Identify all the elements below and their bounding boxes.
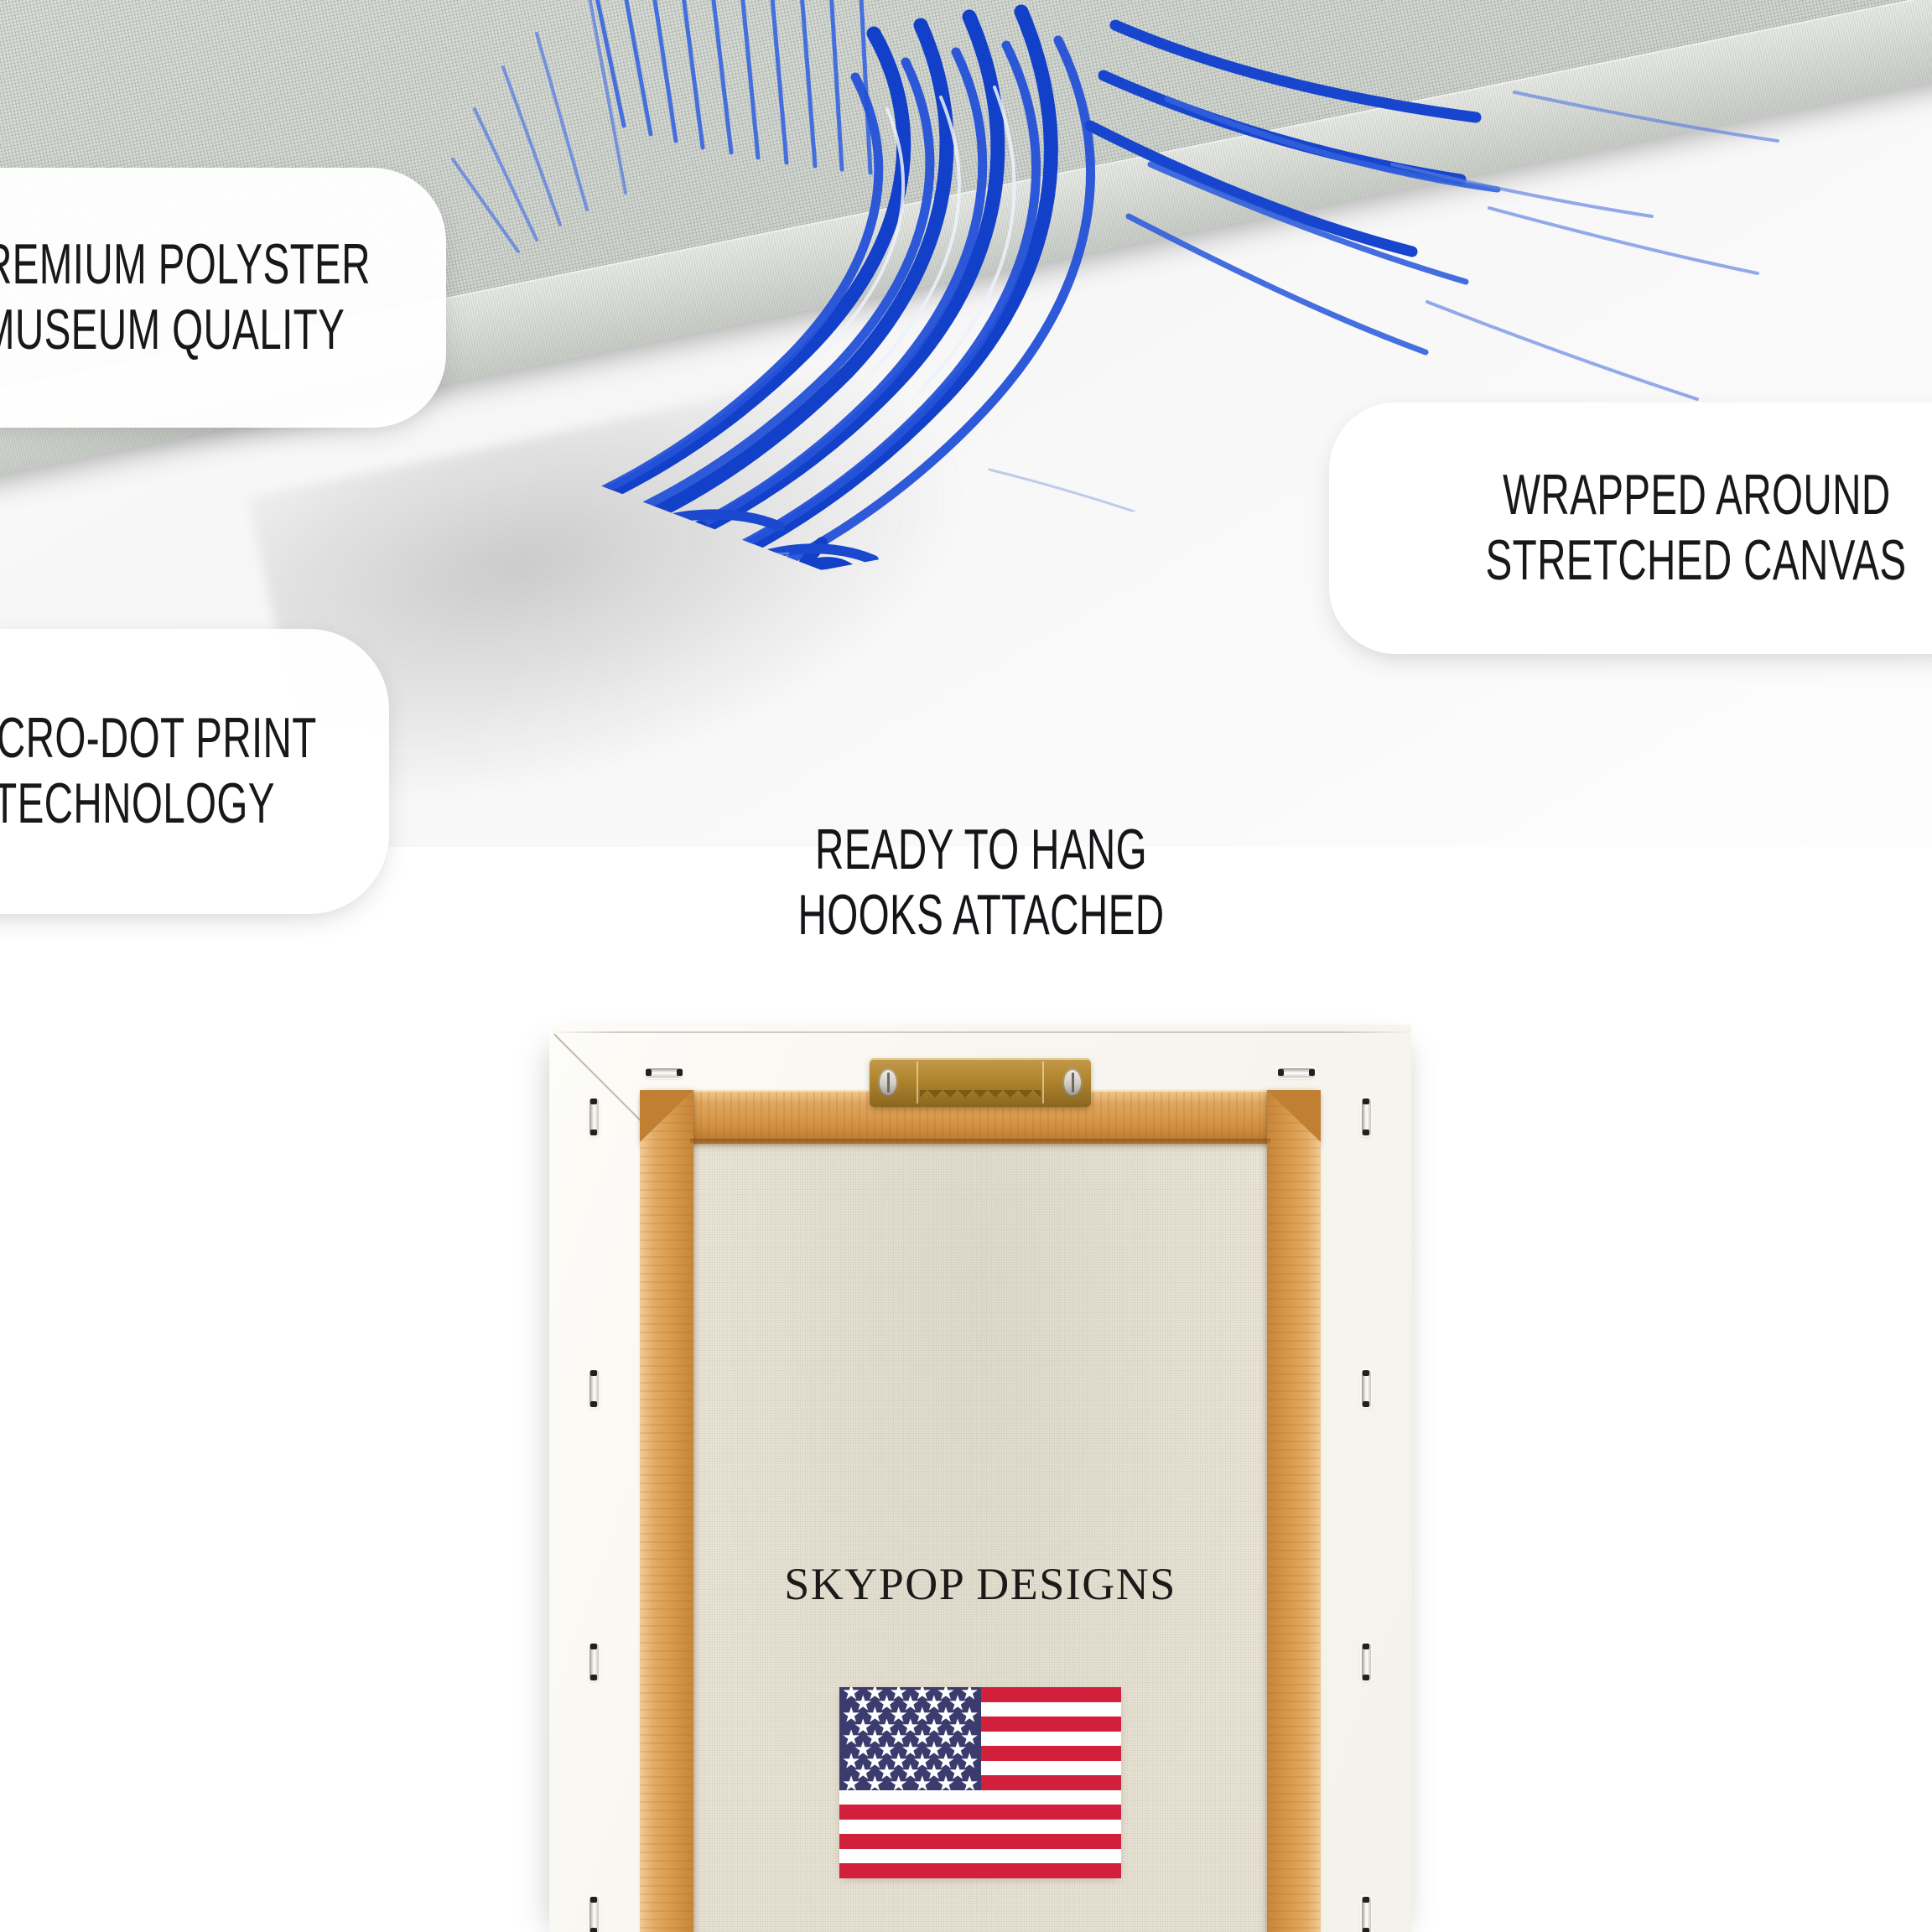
staple (1362, 1098, 1371, 1135)
feature-label-premium-polyster: PREMIUM POLYSTER MUSEUM QUALITY (0, 168, 446, 428)
flag-stripe (839, 1863, 1121, 1878)
feature-label-line1: MICRO-DOT PRINT (0, 706, 317, 771)
sawtooth-hanger-icon (870, 1058, 1091, 1107)
feature-label-line2: MUSEUM QUALITY (0, 298, 345, 363)
staple (1278, 1068, 1315, 1078)
staple (1362, 1897, 1371, 1932)
hanger-screw-right (1062, 1068, 1083, 1097)
hanger-seam-right (1042, 1062, 1044, 1104)
stretcher-bar-left (640, 1090, 693, 1932)
flag-star: ★ (889, 1774, 907, 1794)
feature-label-line2: HOOKS ATTACHED (758, 883, 1204, 948)
stretcher-bevel-top-right (1267, 1090, 1321, 1142)
flag-star: ★ (865, 1774, 884, 1794)
flag-canton: ★★★★★★★★★★★★★★★★★★★★★★★★★★★★★★★★★★★★★★★★… (839, 1687, 981, 1790)
feature-label-wrapped-around: WRAPPED AROUND STRETCHED CANVAS (1329, 402, 1932, 654)
flag-star: ★ (937, 1774, 955, 1794)
flag-stars: ★★★★★★★★★★★★★★★★★★★★★★★★★★★★★★★★★★★★★★★★… (839, 1687, 981, 1790)
staple (589, 1098, 599, 1135)
flag-star: ★ (913, 1774, 932, 1794)
stretcher-bar-right (1267, 1090, 1321, 1932)
feature-label-line1: READY TO HANG (758, 818, 1204, 883)
canvas-back-photo: SKYPOP DESIGNS ★★★★★★★★★★★★★★★★★★★★★★★★★… (549, 1025, 1411, 1932)
flag-stripe (839, 1834, 1121, 1849)
feature-label-line1: PREMIUM POLYSTER (0, 232, 371, 298)
hanger-screw-left (878, 1068, 898, 1097)
brand-label: SKYPOP DESIGNS (549, 1558, 1411, 1610)
hanger-sawtooth-teeth (920, 1090, 1041, 1104)
stretcher-bevel-top-left (640, 1090, 693, 1142)
staple (646, 1068, 683, 1078)
staple (589, 1644, 599, 1680)
feature-label-line2: TECHNOLOGY (0, 771, 275, 837)
feature-label-ready-to-hang: READY TO HANG HOOKS ATTACHED (662, 818, 1300, 948)
flag-star: ★ (842, 1774, 860, 1794)
flag-star: ★ (960, 1774, 979, 1794)
staple (589, 1370, 599, 1407)
flag-stripe (839, 1820, 1121, 1835)
feature-label-line1: WRAPPED AROUND (1503, 463, 1890, 528)
usa-flag-icon: ★★★★★★★★★★★★★★★★★★★★★★★★★★★★★★★★★★★★★★★★… (839, 1687, 1121, 1878)
staple (1362, 1644, 1371, 1680)
stretcher-inner-lip (690, 1139, 1270, 1145)
flag-stripe (839, 1849, 1121, 1864)
infographic-canvas: PREMIUM POLYSTER MUSEUM QUALITY WRAPPED … (0, 0, 1932, 1932)
feature-label-micro-dot-print: MICRO-DOT PRINT TECHNOLOGY (0, 629, 389, 914)
flag-stripe (839, 1805, 1121, 1820)
staple (589, 1897, 599, 1932)
hanger-seam-left (917, 1062, 918, 1104)
staple (1362, 1370, 1371, 1407)
feature-label-line2: STRETCHED CANVAS (1486, 528, 1907, 594)
